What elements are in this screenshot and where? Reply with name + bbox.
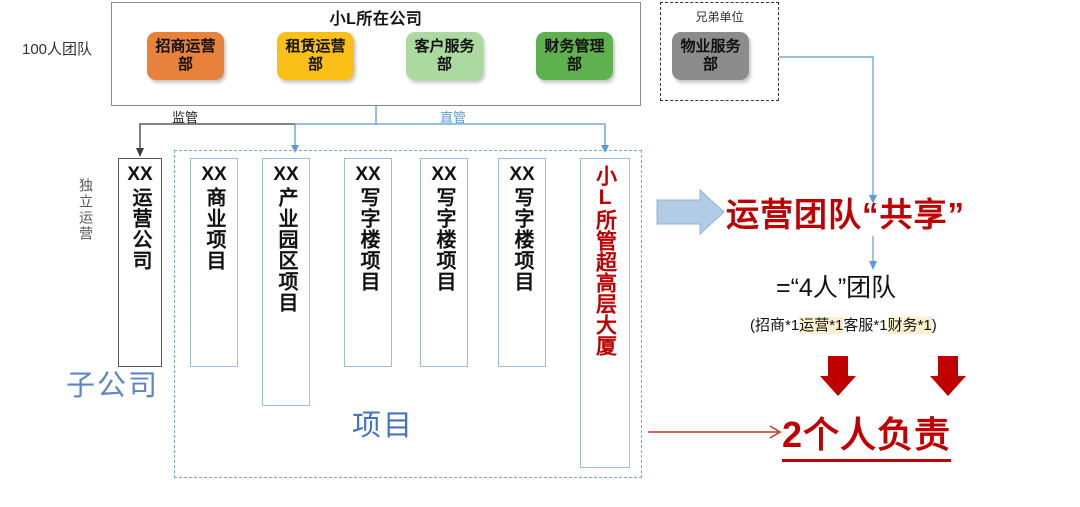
department-box-kefu[interactable]: 客户服务部 [406,32,483,80]
entity-name: 运营公司 [130,187,150,271]
entity-box-office-project-2[interactable]: XX 写字楼项目 [420,158,468,367]
team-size-label: 100人团队 [22,38,92,59]
department-box-caiwu[interactable]: 财务管理部 [536,32,613,80]
project-group-boundary [174,150,642,478]
blue-block-arrow [657,190,724,234]
direct-manage-label: 直管 [440,107,466,126]
entity-box-commercial-project[interactable]: XX 商业项目 [190,158,238,367]
entity-box-office-project-1[interactable]: XX 写字楼项目 [344,158,392,367]
entity-name: 产业园区项目 [276,187,296,313]
entity-name: 写字楼项目 [358,187,378,292]
entity-prefix: XX [509,165,534,185]
breakdown-suffix: ) [932,317,937,334]
breakdown-prefix: (招商*1 [750,317,799,334]
entity-prefix: XX [355,165,380,185]
entity-box-office-project-3[interactable]: XX 写字楼项目 [498,158,546,367]
entity-box-operating-company[interactable]: XX 运营公司 [118,158,162,367]
entity-name: 小L所管超高层大厦 [595,165,616,356]
entity-name: 写字楼项目 [434,187,454,292]
breakdown-middle: 客服*1 [843,317,887,334]
breakdown-highlight-operations: 运营*1 [799,317,843,334]
subsidiary-label: 子公司 [66,362,159,404]
brother-unit-title: 兄弟单位 [660,8,779,25]
department-box-zhaoshang[interactable]: 招商运营部 [147,32,224,80]
result-two-people-text: 2个人负责 [782,406,951,462]
entity-box-highlight-tower[interactable]: 小L所管超高层大厦 [580,158,630,468]
team-breakdown-text: (招商*1运营*1客服*1财务*1) [750,314,937,335]
supervise-label: 监管 [172,107,198,126]
entity-prefix: XX [431,165,456,185]
entity-prefix: XX [201,165,226,185]
entity-box-industrial-park-project[interactable]: XX 产业园区项目 [262,158,310,406]
entity-prefix: XX [273,165,298,185]
red-down-arrows [820,356,966,396]
breakdown-highlight-finance: 财务*1 [888,317,932,334]
independent-operation-label: 独立运营 [72,178,94,242]
department-box-wuye[interactable]: 物业服务部 [672,32,749,80]
four-people-team-text: =“4人”团队 [776,268,896,304]
share-team-title: 运营团队“共享” [726,188,965,236]
entity-name: 商业项目 [204,187,224,271]
company-title: 小L所在公司 [111,5,641,29]
entity-name: 写字楼项目 [512,187,532,292]
entity-prefix: XX [127,165,152,185]
department-box-zulin[interactable]: 租赁运营部 [277,32,354,80]
